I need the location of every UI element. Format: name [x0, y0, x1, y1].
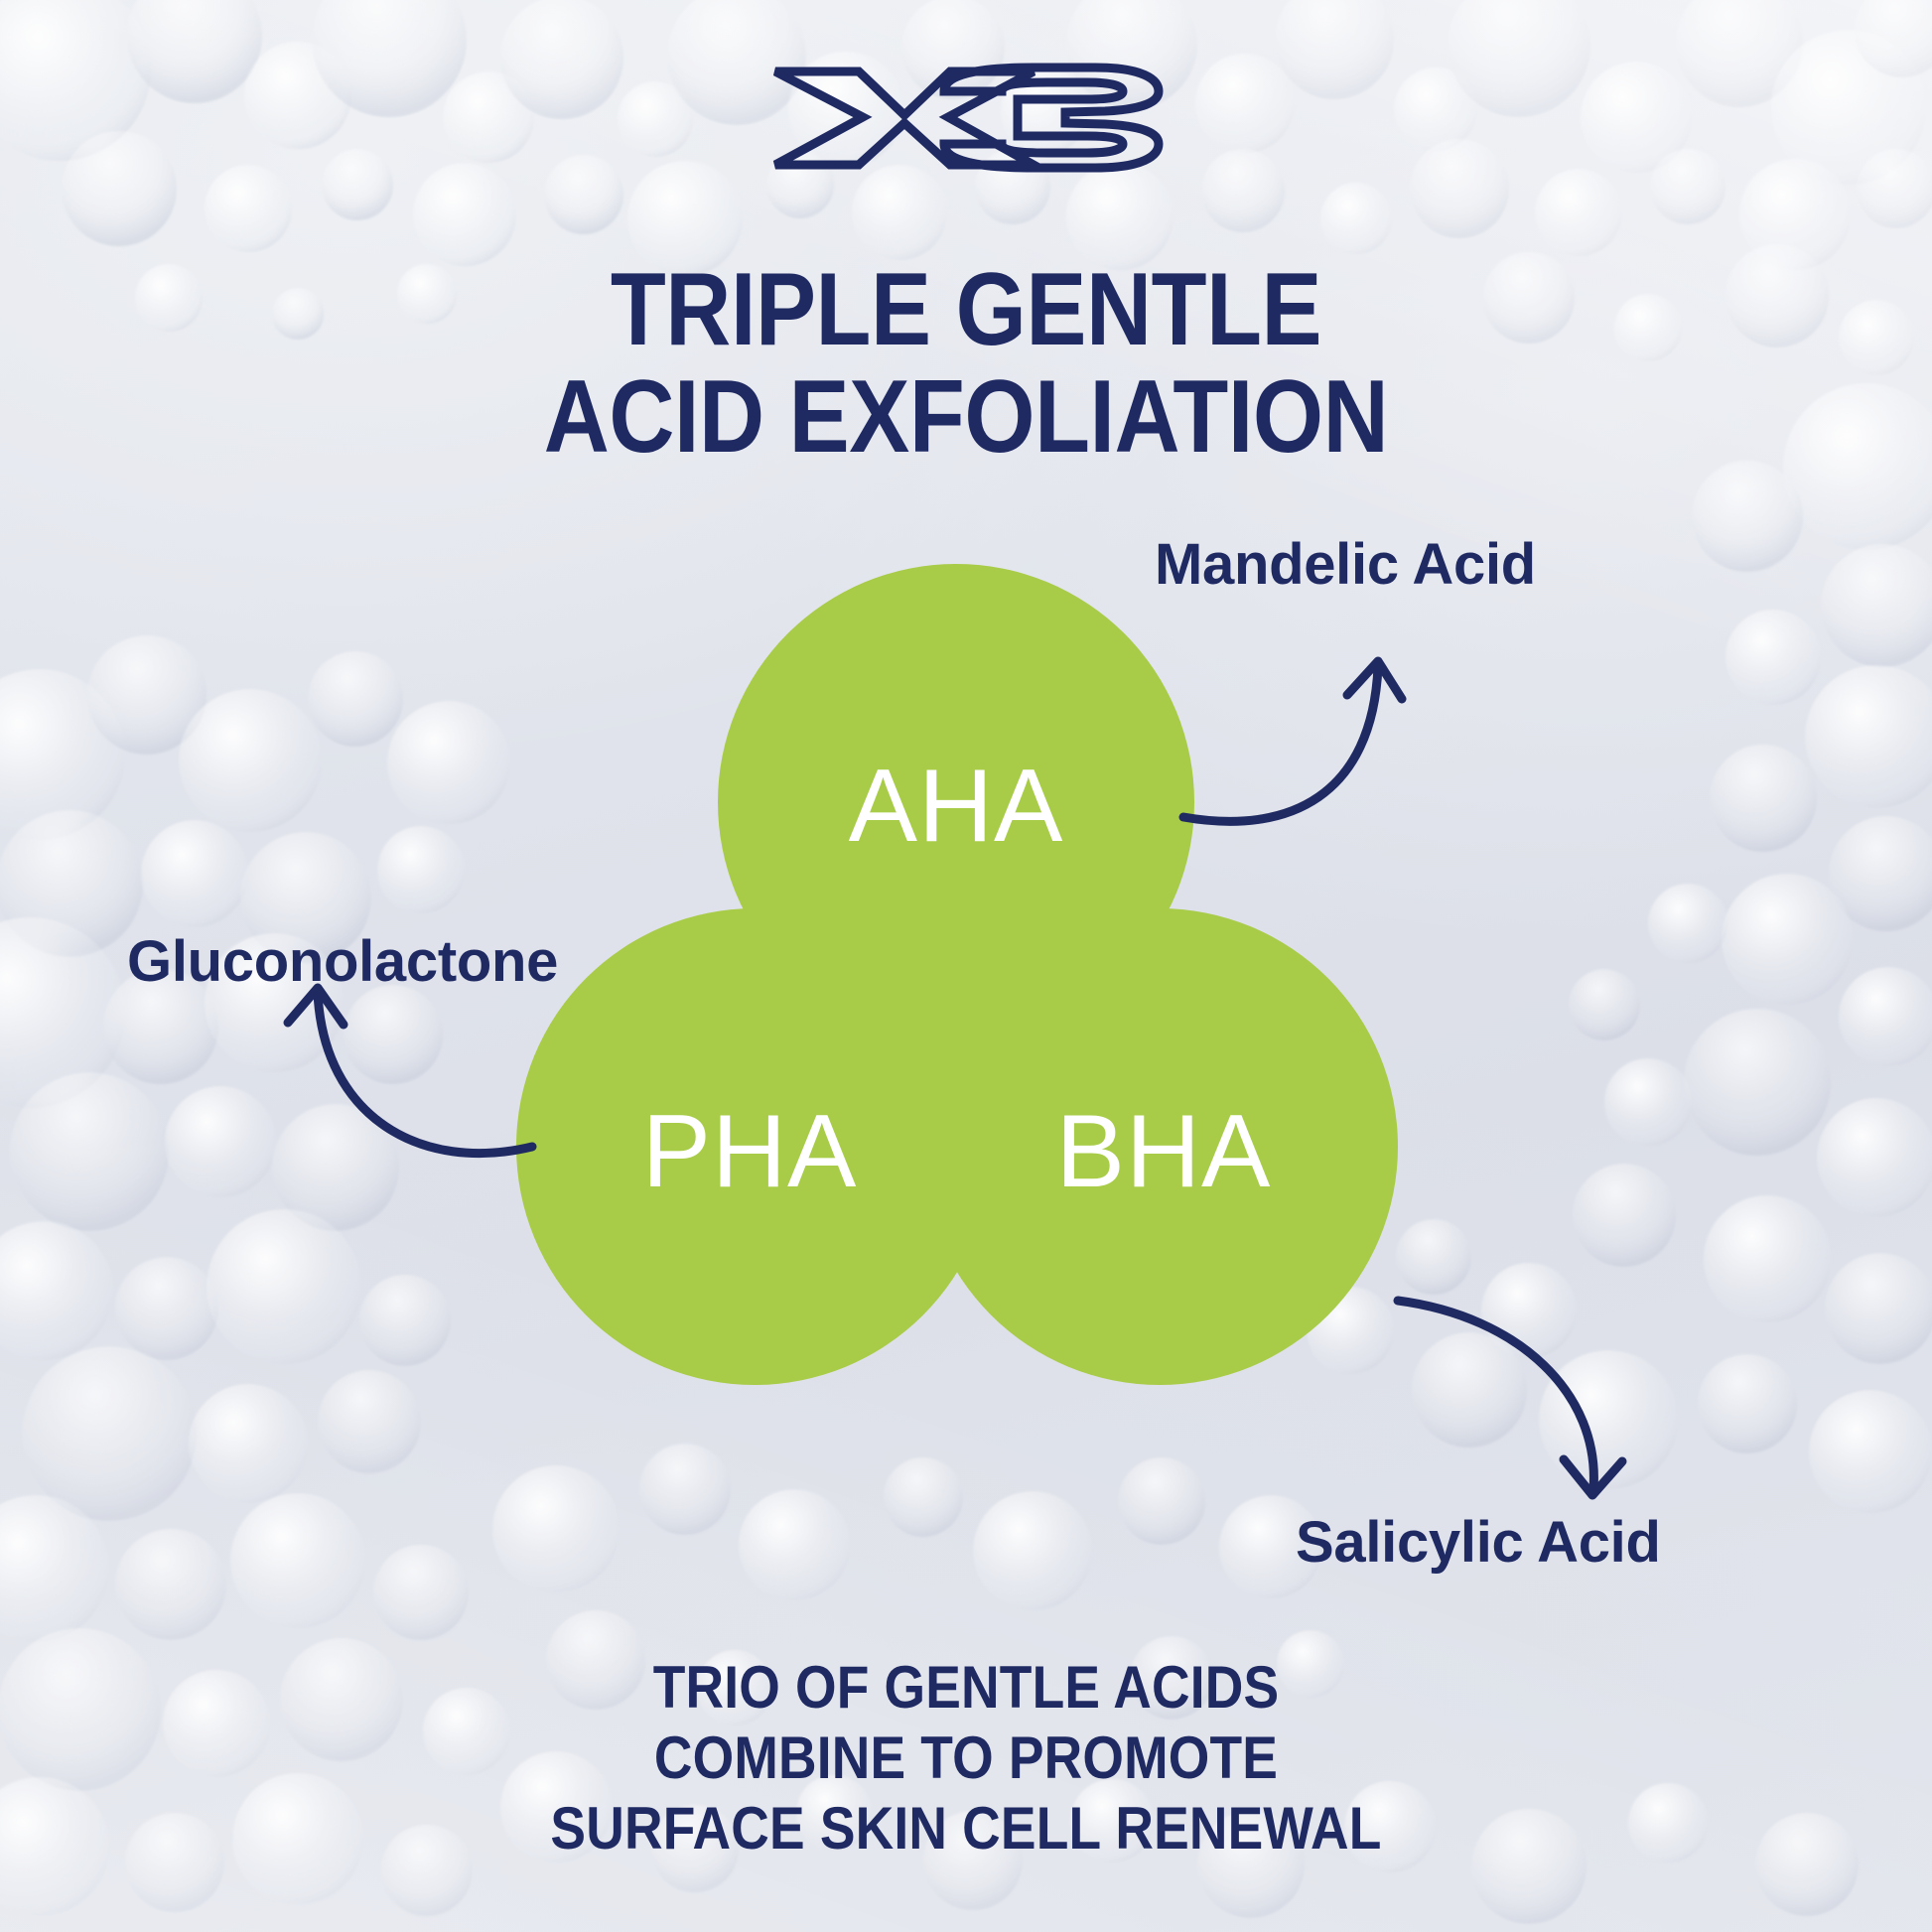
callout-label-salicylic-acid: Salicylic Acid	[1296, 1514, 1661, 1572]
callout-label-gluconolactone: Gluconolactone	[127, 933, 558, 991]
footer-caption: TRIO OF GENTLE ACIDS COMBINE TO PROMOTE …	[106, 1653, 1826, 1863]
blob-label-aha: AHA	[849, 755, 1064, 858]
footer-caption-line1: TRIO OF GENTLE ACIDS	[106, 1653, 1826, 1724]
x3-logo-icon	[767, 58, 1165, 177]
callout-label-mandelic-acid: Mandelic Acid	[1155, 536, 1536, 594]
x3-logo	[0, 58, 1932, 177]
blob-label-pha: PHA	[642, 1100, 858, 1203]
page-title-line2: ACID EXFOLIATION	[116, 363, 1816, 471]
footer-caption-line2: COMBINE TO PROMOTE	[106, 1724, 1826, 1794]
footer-caption-line3: SURFACE SKIN CELL RENEWAL	[106, 1794, 1826, 1864]
page-title: TRIPLE GENTLE ACID EXFOLIATION	[116, 256, 1816, 471]
page-title-line1: TRIPLE GENTLE	[611, 252, 1321, 367]
infographic-canvas: TRIPLE GENTLE ACID EXFOLIATION	[0, 0, 1932, 1932]
blob-label-bha: BHA	[1056, 1100, 1272, 1203]
